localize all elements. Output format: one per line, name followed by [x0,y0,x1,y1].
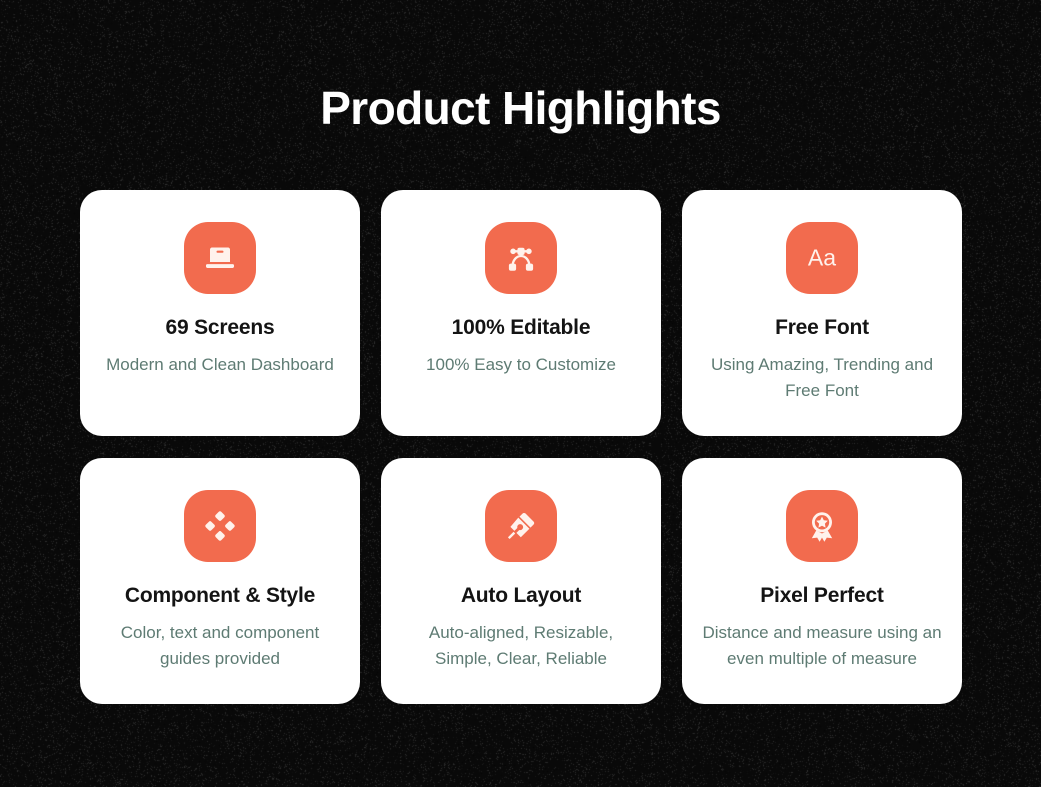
card-description: Auto-aligned, Resizable, Simple, Clear, … [387,620,655,672]
card-title: Pixel Perfect [760,584,883,608]
page-title: Product Highlights [0,82,1041,134]
feature-card-pixel-perfect[interactable]: Pixel Perfect Distance and measure using… [682,458,962,704]
card-title: 100% Editable [452,316,591,340]
feature-card-69-screens[interactable]: 69 Screens Modern and Clean Dashboard [80,190,360,436]
card-description: 100% Easy to Customize [412,352,630,378]
laptop-icon [184,222,256,294]
card-title: Free Font [775,316,869,340]
card-title: Auto Layout [461,584,581,608]
pen-nib-icon [485,490,557,562]
card-description: Distance and measure using an even multi… [688,620,956,672]
feature-card-grid: 69 Screens Modern and Clean Dashboard 10… [80,190,962,704]
component-diamonds-icon [184,490,256,562]
feature-card-100-editable[interactable]: 100% Editable 100% Easy to Customize [381,190,661,436]
card-title: Component & Style [125,584,315,608]
card-description: Color, text and component guides provide… [86,620,354,672]
product-highlights-page: Product Highlights 69 Screens Modern and… [0,0,1041,787]
card-title: 69 Screens [166,316,275,340]
award-medal-icon [786,490,858,562]
svg-text:Aa: Aa [808,245,836,271]
typography-aa-icon: Aa [786,222,858,294]
feature-card-component-style[interactable]: Component & Style Color, text and compon… [80,458,360,704]
feature-card-free-font[interactable]: Aa Free Font Using Amazing, Trending and… [682,190,962,436]
bezier-node-icon [485,222,557,294]
card-description: Modern and Clean Dashboard [92,352,348,378]
feature-card-auto-layout[interactable]: Auto Layout Auto-aligned, Resizable, Sim… [381,458,661,704]
card-description: Using Amazing, Trending and Free Font [688,352,956,404]
